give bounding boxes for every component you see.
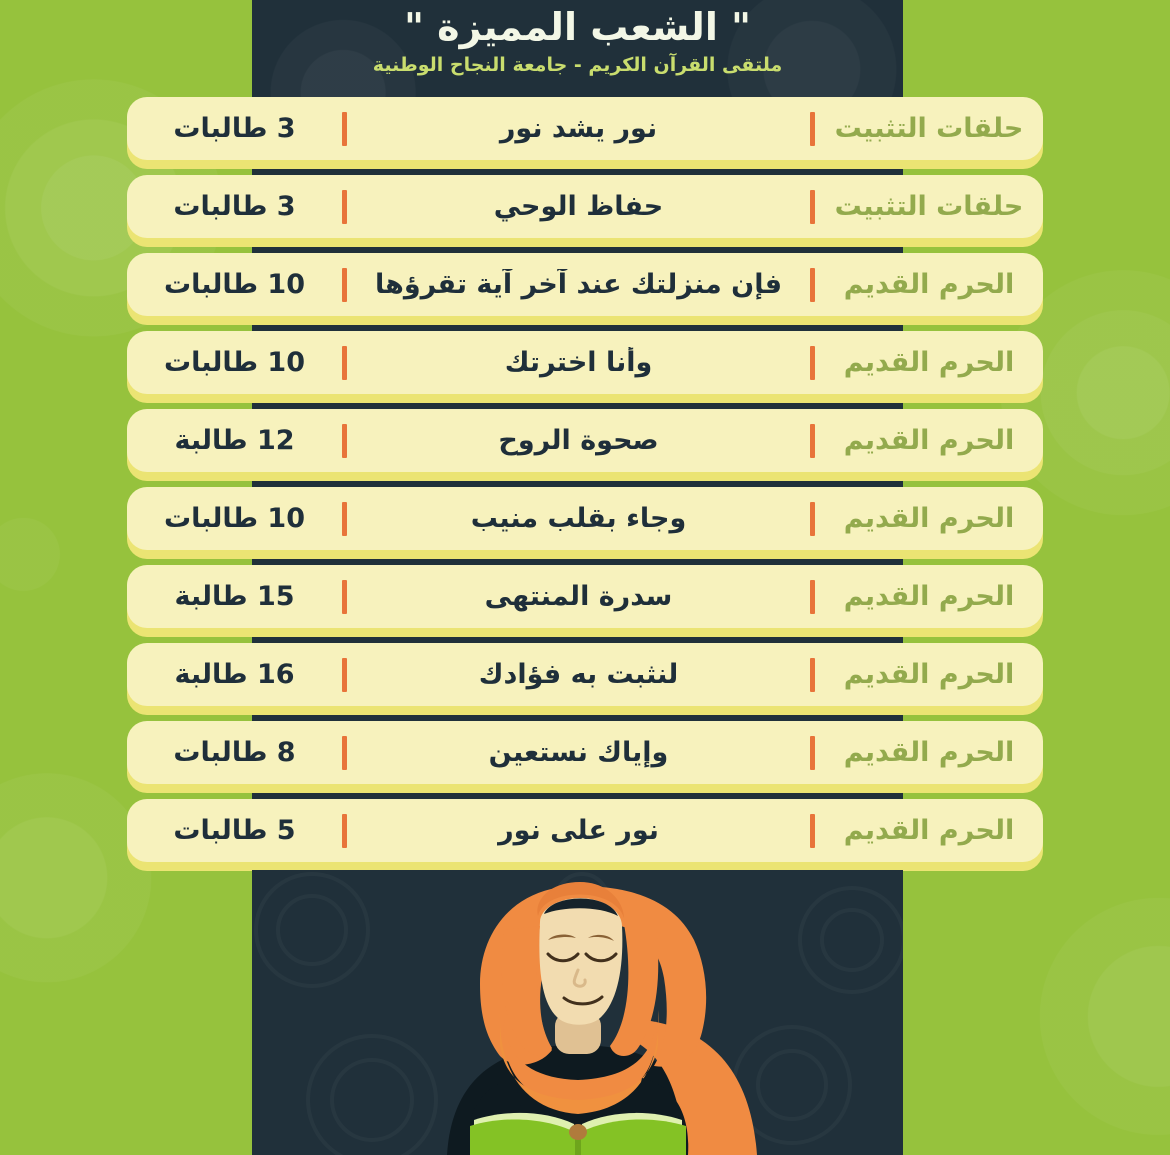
column-divider-icon <box>810 268 815 302</box>
column-divider-icon <box>342 190 347 224</box>
column-divider-icon <box>810 112 815 146</box>
cell-title: صحوة الروح <box>347 425 810 456</box>
column-divider-icon <box>342 346 347 380</box>
cell-count: 10 طالبات <box>127 503 342 534</box>
column-divider-icon <box>342 814 347 848</box>
cell-title: وجاء بقلب منيب <box>347 503 810 534</box>
cell-count: 16 طالبة <box>127 659 342 690</box>
cell-category: الحرم القديم <box>815 581 1043 612</box>
row-card[interactable]: الحرم القديملنثبت به فؤادك16 طالبة <box>127 643 1043 706</box>
cell-count: 5 طالبات <box>127 815 342 846</box>
cell-count: 12 طالبة <box>127 425 342 456</box>
row-card[interactable]: الحرم القديمفإن منزلتك عند آخر آية تقرؤه… <box>127 253 1043 316</box>
row-card[interactable]: الحرم القديموجاء بقلب منيب10 طالبات <box>127 487 1043 550</box>
column-divider-icon <box>342 580 347 614</box>
table-row: الحرم القديمصحوة الروح12 طالبة <box>0 406 1170 484</box>
results-table: حلقات التثبيتنور يشد نور3 طالباتحلقات ال… <box>0 94 1170 874</box>
column-divider-icon <box>810 736 815 770</box>
cell-title: وإياك نستعين <box>347 737 810 768</box>
poster-root: " الشعب المميزة " ملتقى القرآن الكريم - … <box>0 0 1170 1155</box>
row-card[interactable]: حلقات التثبيتحفاظ الوحي3 طالبات <box>127 175 1043 238</box>
page-subtitle: ملتقى القرآن الكريم - جامعة النجاح الوطن… <box>373 54 782 77</box>
cell-category: حلقات التثبيت <box>815 113 1043 144</box>
column-divider-icon <box>810 424 815 458</box>
page-title: " الشعب المميزة " <box>404 5 751 50</box>
cell-title: حفاظ الوحي <box>347 191 810 222</box>
woman-reading-quran-illustration <box>252 870 903 1155</box>
table-row: الحرم القديموأنا اخترتك10 طالبات <box>0 328 1170 406</box>
column-divider-icon <box>810 190 815 224</box>
cell-title: وأنا اخترتك <box>347 347 810 378</box>
cell-count: 10 طالبات <box>127 269 342 300</box>
cell-category: الحرم القديم <box>815 269 1043 300</box>
table-row: الحرم القديمفإن منزلتك عند آخر آية تقرؤه… <box>0 250 1170 328</box>
column-divider-icon <box>342 658 347 692</box>
cell-title: نور يشد نور <box>347 113 810 144</box>
table-row: الحرم القديموجاء بقلب منيب10 طالبات <box>0 484 1170 562</box>
column-divider-icon <box>810 346 815 380</box>
row-card[interactable]: الحرم القديمنور على نور5 طالبات <box>127 799 1043 862</box>
column-divider-icon <box>342 424 347 458</box>
cell-count: 15 طالبة <box>127 581 342 612</box>
cell-count: 3 طالبات <box>127 191 342 222</box>
cell-category: الحرم القديم <box>815 503 1043 534</box>
column-divider-icon <box>342 736 347 770</box>
column-divider-icon <box>810 814 815 848</box>
column-divider-icon <box>342 112 347 146</box>
cell-count: 8 طالبات <box>127 737 342 768</box>
cell-title: لنثبت به فؤادك <box>347 659 810 690</box>
table-row: الحرم القديموإياك نستعين8 طالبات <box>0 718 1170 796</box>
cell-category: حلقات التثبيت <box>815 191 1043 222</box>
cell-count: 10 طالبات <box>127 347 342 378</box>
table-row: الحرم القديمسدرة المنتهى15 طالبة <box>0 562 1170 640</box>
column-divider-icon <box>342 502 347 536</box>
cell-title: فإن منزلتك عند آخر آية تقرؤها <box>347 269 810 300</box>
row-card[interactable]: الحرم القديموإياك نستعين8 طالبات <box>127 721 1043 784</box>
column-divider-icon <box>342 268 347 302</box>
table-row: حلقات التثبيتحفاظ الوحي3 طالبات <box>0 172 1170 250</box>
table-row: الحرم القديمنور على نور5 طالبات <box>0 796 1170 874</box>
cell-category: الحرم القديم <box>815 347 1043 378</box>
cell-category: الحرم القديم <box>815 815 1043 846</box>
column-divider-icon <box>810 502 815 536</box>
row-card[interactable]: الحرم القديموأنا اخترتك10 طالبات <box>127 331 1043 394</box>
column-divider-icon <box>810 580 815 614</box>
row-card[interactable]: الحرم القديمصحوة الروح12 طالبة <box>127 409 1043 472</box>
cell-title: نور على نور <box>347 815 810 846</box>
cell-category: الحرم القديم <box>815 659 1043 690</box>
row-card[interactable]: حلقات التثبيتنور يشد نور3 طالبات <box>127 97 1043 160</box>
cell-count: 3 طالبات <box>127 113 342 144</box>
cell-category: الحرم القديم <box>815 737 1043 768</box>
poster-header: " الشعب المميزة " ملتقى القرآن الكريم - … <box>252 0 903 94</box>
table-row: الحرم القديملنثبت به فؤادك16 طالبة <box>0 640 1170 718</box>
row-card[interactable]: الحرم القديمسدرة المنتهى15 طالبة <box>127 565 1043 628</box>
cell-title: سدرة المنتهى <box>347 581 810 612</box>
cell-category: الحرم القديم <box>815 425 1043 456</box>
table-row: حلقات التثبيتنور يشد نور3 طالبات <box>0 94 1170 172</box>
column-divider-icon <box>810 658 815 692</box>
